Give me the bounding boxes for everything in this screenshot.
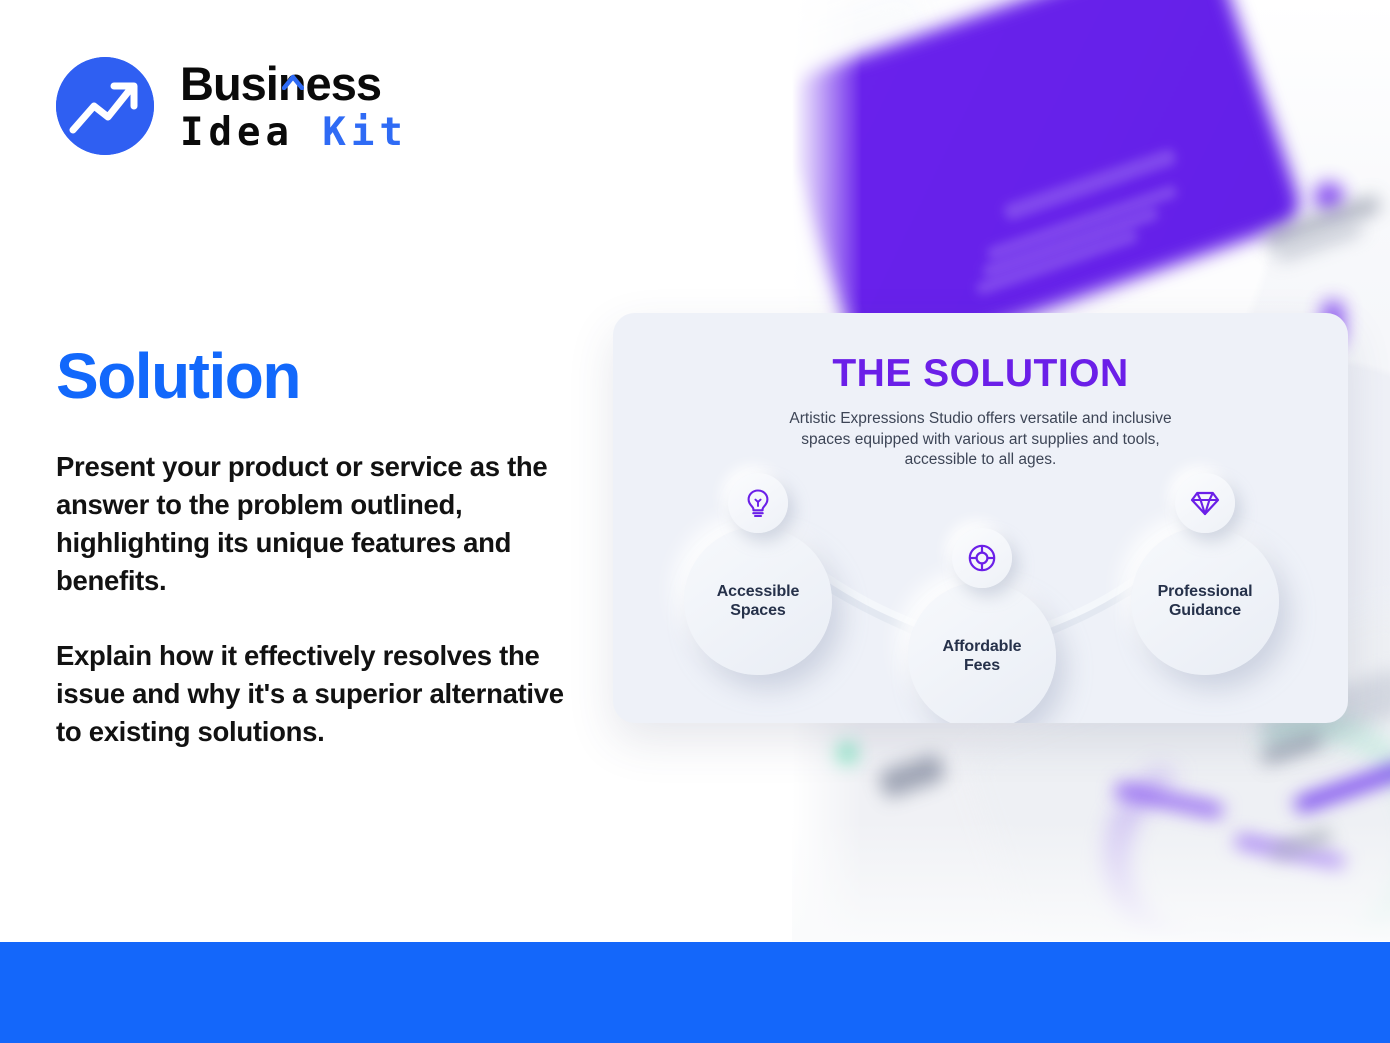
feature-bubble-affordable-fees[interactable]: Affordable Fees [908, 582, 1056, 723]
artwork-bottom-fade [792, 821, 1390, 941]
feature-bubble-label: Affordable Fees [942, 637, 1021, 675]
solution-preview-card[interactable]: THE SOLUTION Artistic Expressions Studio… [613, 313, 1348, 723]
brand-caret-icon [282, 50, 302, 64]
body-paragraph-2: Explain how it effectively resolves the … [56, 637, 586, 751]
page-title: Solution [56, 339, 300, 413]
lifebuoy-icon [952, 528, 1012, 588]
brand-name-secondary: Idea Kit [180, 113, 408, 152]
feature-label-line1: Accessible [717, 583, 800, 600]
diamond-icon [1175, 473, 1235, 533]
footer-accent-bar [0, 942, 1390, 1043]
feature-bubble-label: Professional Guidance [1158, 582, 1253, 620]
feature-bubble-label: Accessible Spaces [717, 582, 800, 620]
brand-name-idea: Idea [180, 110, 294, 155]
growth-arrow-icon [56, 57, 154, 155]
brand-wordmark: Business Idea Kit [180, 60, 408, 152]
feature-bubble-accessible-spaces[interactable]: Accessible Spaces [684, 527, 832, 675]
feature-label-line2: Guidance [1169, 602, 1241, 619]
feature-label-line1: Affordable [942, 638, 1021, 655]
feature-bubble-professional-guidance[interactable]: Professional Guidance [1131, 527, 1279, 675]
brand-logo[interactable]: Business Idea Kit [56, 57, 408, 155]
slide-root: Business Idea Kit Solution Present your … [0, 0, 1390, 1043]
brand-name-primary: Business [180, 60, 408, 107]
feature-label-line1: Professional [1158, 583, 1253, 600]
feature-label-line2: Fees [964, 657, 1000, 674]
lightbulb-icon [728, 473, 788, 533]
feature-label-line2: Spaces [730, 602, 785, 619]
brand-name-kit: Kit [322, 110, 407, 155]
body-paragraph-1: Present your product or service as the a… [56, 448, 586, 600]
brand-name-primary-text: Business [180, 57, 381, 110]
